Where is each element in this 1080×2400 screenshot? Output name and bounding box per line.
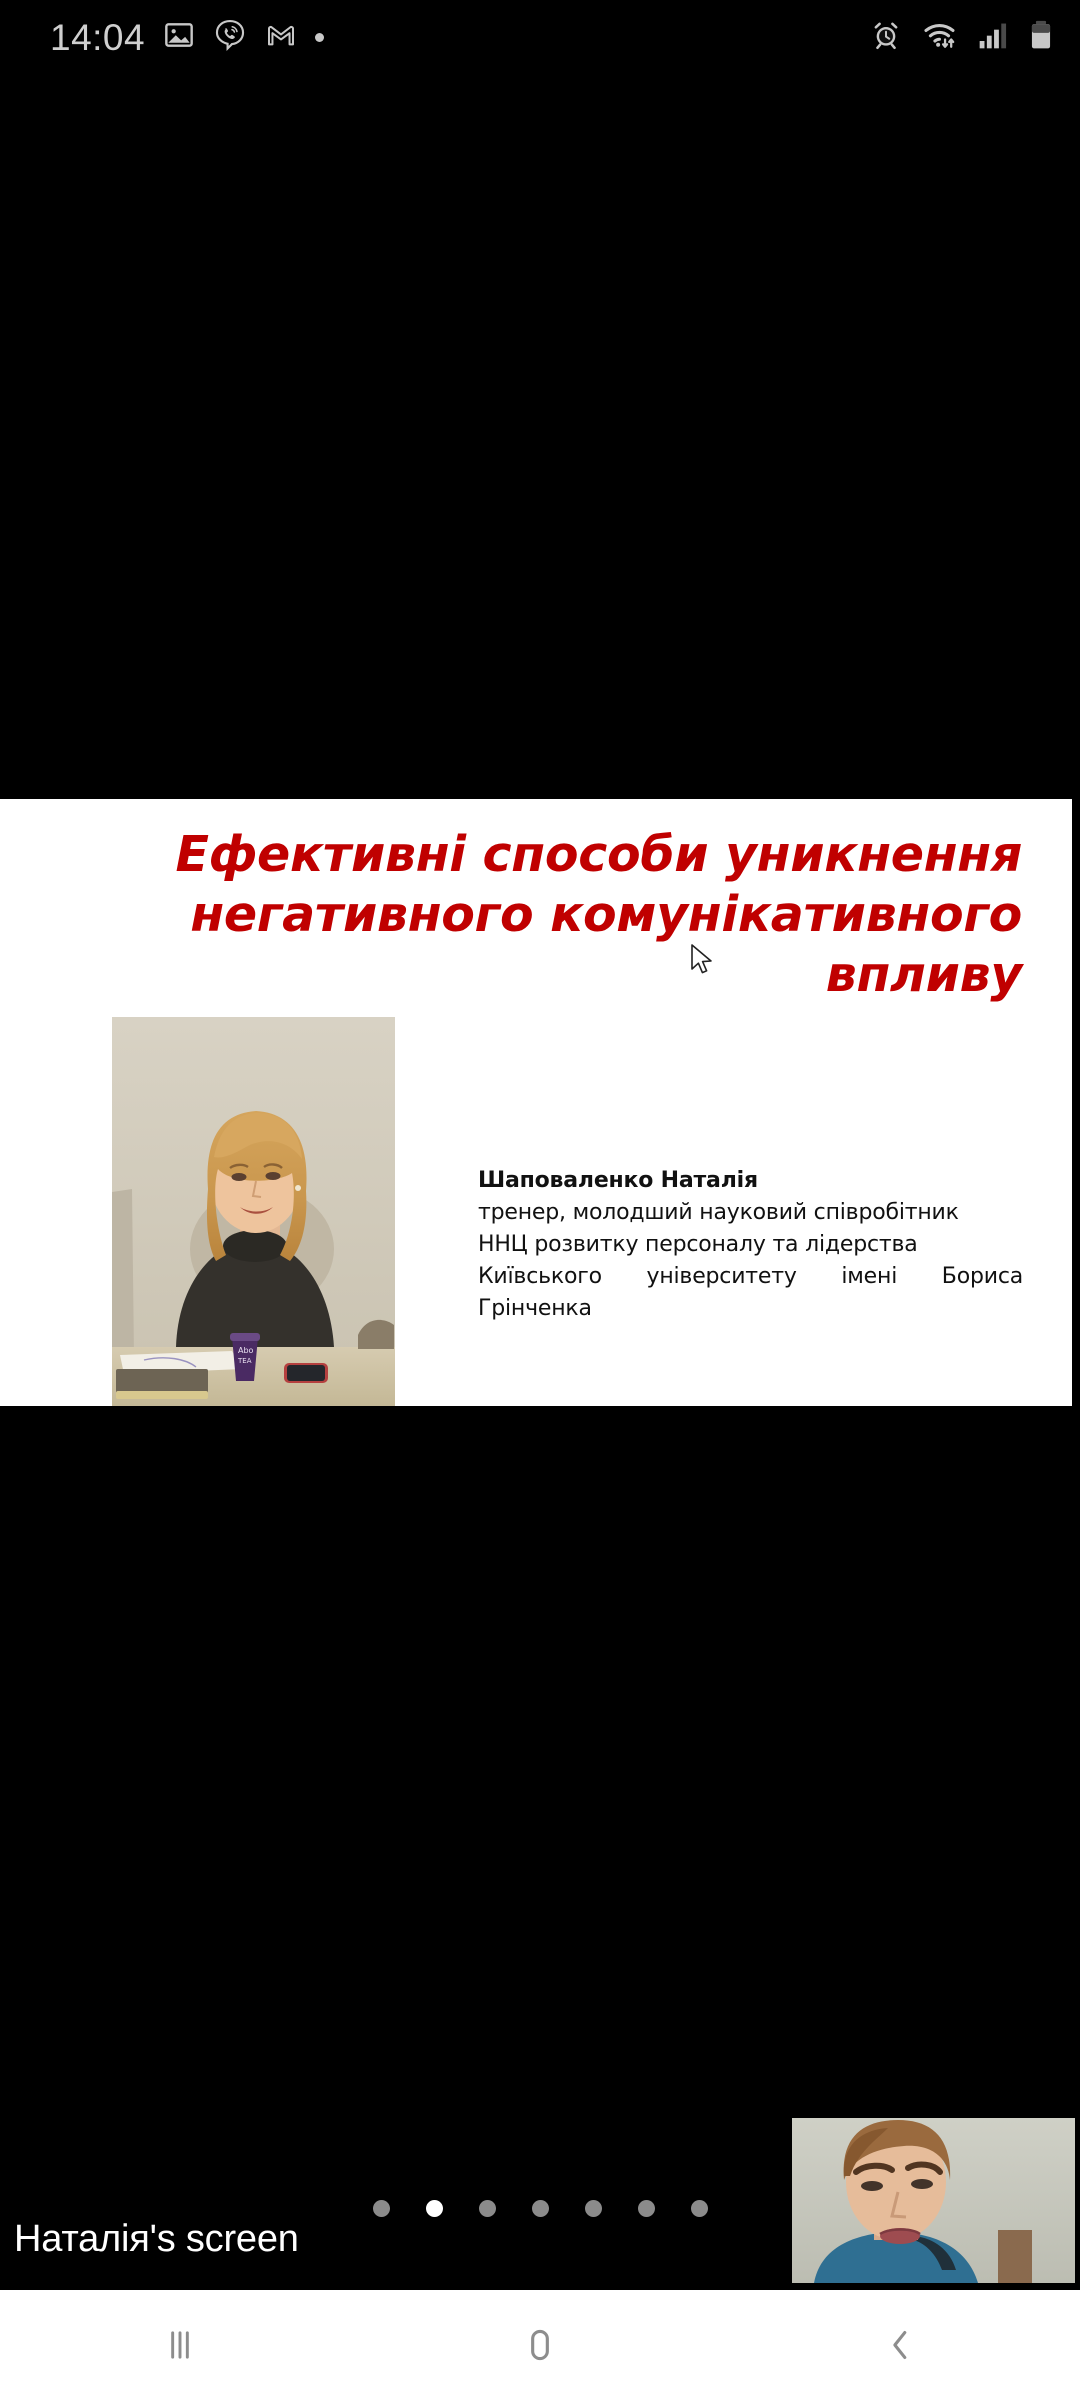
status-bar-right xyxy=(870,19,1054,56)
page-dot-2[interactable] xyxy=(426,2200,443,2217)
speaker-photo: Abo TEA xyxy=(112,1017,395,1406)
slide-title-line-1: Ефективні способи уникнення xyxy=(112,825,1022,885)
svg-text:TEA: TEA xyxy=(237,1357,252,1365)
presentation-slide[interactable]: Ефективні способи уникнення негативного … xyxy=(0,799,1072,1406)
battery-icon xyxy=(1028,19,1054,56)
speaker-info: Шаповаленко Наталія тренер, молодший нау… xyxy=(478,1164,1023,1325)
speaker-name: Шаповаленко Наталія xyxy=(478,1164,1023,1197)
page-dot-1[interactable] xyxy=(373,2200,390,2217)
page-dot-5[interactable] xyxy=(585,2200,602,2217)
speaker-role-line-1: тренер, молодший науковий співробітник xyxy=(478,1197,1023,1229)
page-dot-4[interactable] xyxy=(532,2200,549,2217)
page-dot-7[interactable] xyxy=(691,2200,708,2217)
signal-icon xyxy=(978,19,1008,56)
gmail-icon xyxy=(265,19,297,56)
recents-button[interactable] xyxy=(105,2290,255,2400)
status-bar-left: 14:04 xyxy=(50,18,324,57)
speaker-role-line-2: ННЦ розвитку персоналу та лідерства xyxy=(478,1229,1023,1261)
wifi-icon xyxy=(922,19,958,56)
home-button[interactable] xyxy=(465,2290,615,2400)
gallery-icon xyxy=(163,19,195,56)
back-button[interactable] xyxy=(825,2290,975,2400)
more-notifications-dot xyxy=(315,33,324,42)
page-dot-3[interactable] xyxy=(479,2200,496,2217)
viber-icon xyxy=(213,18,247,57)
screen-share-label: Наталія's screen xyxy=(14,2218,299,2261)
svg-text:Abo: Abo xyxy=(238,1346,254,1355)
android-navigation-bar xyxy=(0,2290,1080,2400)
speaker-role-line-4: Грінченка xyxy=(478,1293,1023,1325)
speaker-role-line-3: Київського університету імені Бориса xyxy=(478,1261,1023,1293)
phone-screen: 14:04 xyxy=(0,0,1080,2400)
self-view-thumbnail[interactable] xyxy=(792,2118,1075,2283)
page-dot-6[interactable] xyxy=(638,2200,655,2217)
alarm-icon xyxy=(870,19,902,56)
status-clock: 14:04 xyxy=(50,19,145,56)
status-bar: 14:04 xyxy=(0,0,1080,74)
slide-title-line-3: впливу xyxy=(112,945,1022,1005)
slide-title: Ефективні способи уникнення негативного … xyxy=(112,825,1022,1004)
slide-title-line-2: негативного комунікативного xyxy=(112,885,1022,945)
